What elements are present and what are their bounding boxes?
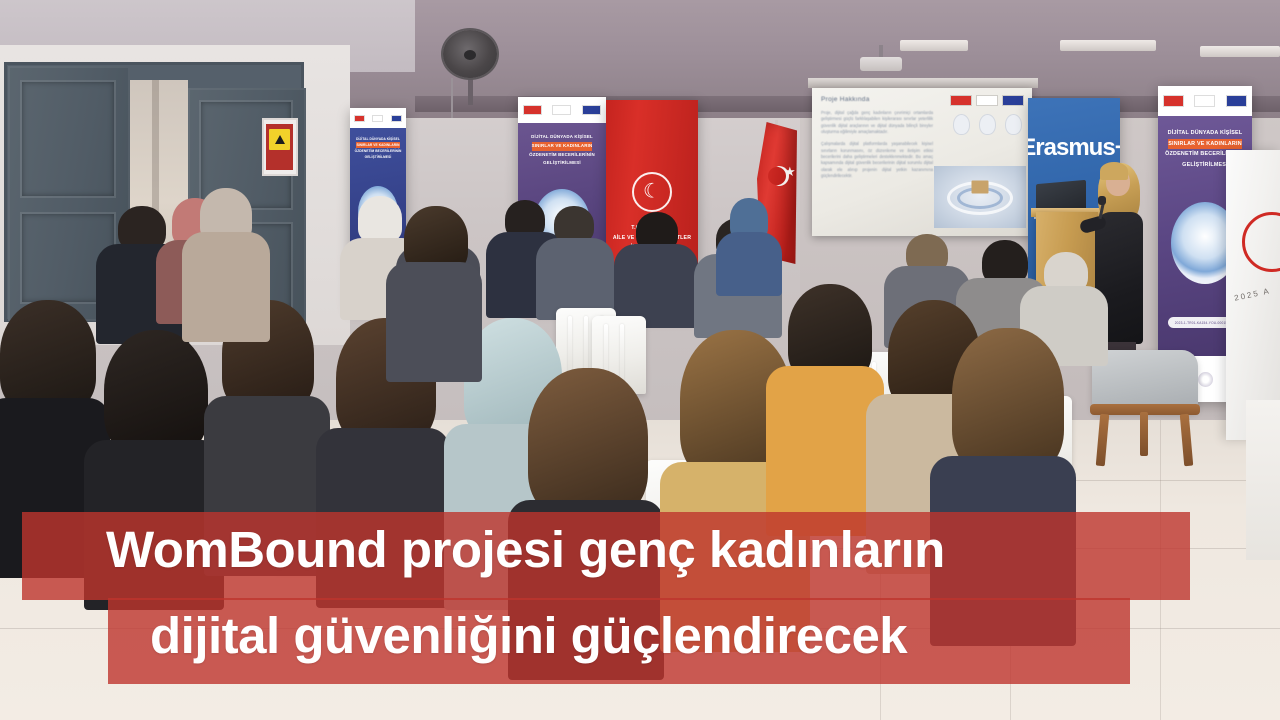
ceiling-light-strip-2 bbox=[1060, 40, 1156, 51]
slide-graphic-card bbox=[972, 181, 989, 194]
slide-paragraph-1: Proje, dijital çağda genç kadınların çev… bbox=[821, 110, 933, 135]
projector-icon bbox=[860, 57, 902, 71]
slide-badge-icon-2 bbox=[979, 114, 996, 135]
turkey-flag-icon bbox=[1163, 95, 1184, 107]
banner-mid-line3: ÖZDENETİM BECERİLERİNİN bbox=[518, 151, 606, 160]
warning-triangle-icon bbox=[275, 135, 285, 144]
slide-icon-row bbox=[953, 114, 1022, 135]
fan-cord bbox=[451, 78, 453, 118]
banner-mid-flag-row bbox=[518, 97, 606, 123]
banner-mid-line2: SINIRLAR VE KADINLARIN bbox=[532, 142, 593, 151]
slide-badge-icon-1 bbox=[953, 114, 970, 135]
ceiling-light-strip bbox=[900, 40, 968, 51]
ceiling-light-strip-3 bbox=[1200, 46, 1280, 57]
eu-flag-icon bbox=[1226, 95, 1247, 107]
flag-crescent-icon bbox=[764, 166, 784, 186]
fan-mount bbox=[468, 75, 473, 105]
turkey-flag-icon bbox=[354, 115, 365, 122]
ministry-emblem-icon bbox=[632, 172, 672, 212]
ministry-flag-icon bbox=[372, 115, 383, 122]
speaker-hair-top bbox=[1100, 162, 1128, 180]
eu-flag-icon bbox=[582, 105, 601, 115]
banner-left-flag-row bbox=[350, 108, 406, 128]
footer-logo-2 bbox=[1198, 372, 1213, 387]
news-photo: Proje Hakkında Proje, dijital çağda genç… bbox=[0, 0, 1280, 720]
white-banner-emblem-icon bbox=[1242, 212, 1280, 272]
eu-flag-icon bbox=[391, 115, 402, 122]
slide-title: Proje Hakkında bbox=[821, 96, 1023, 103]
banner-right-flag-row bbox=[1158, 86, 1252, 116]
erasmus-wordmark: Erasmus+ bbox=[1028, 134, 1120, 162]
ministry-flag-icon bbox=[1194, 95, 1215, 107]
banner-right-line1: DİJİTAL DÜNYADA KİŞİSEL bbox=[1158, 128, 1252, 139]
wall-sliver bbox=[1246, 400, 1280, 560]
banner-right-line2: SINIRLAR VE KADINLARIN bbox=[1168, 139, 1242, 150]
caption-line-1: WomBound projesi genç kadınların bbox=[106, 524, 945, 575]
screen-case bbox=[808, 78, 1038, 88]
white-banner-year: 2025 A bbox=[1233, 286, 1271, 302]
slide-paragraph-2: Çalışmalarda dijital platformlarda yaşan… bbox=[821, 141, 933, 179]
projection-screen: Proje Hakkında Proje, dijital çağda genç… bbox=[812, 88, 1032, 236]
presentation-slide: Proje Hakkında Proje, dijital çağda genç… bbox=[812, 88, 1032, 236]
caption-line-2: dijital güvenliğini güçlendirecek bbox=[150, 610, 907, 661]
slide-badge-icon-3 bbox=[1005, 114, 1022, 135]
white-flag-banner: 2025 A bbox=[1226, 150, 1280, 440]
slide-graphic bbox=[934, 166, 1026, 228]
banner-mid-line1: DİJİTAL DÜNYADA KİŞİSEL bbox=[518, 133, 606, 142]
turkey-flag-icon bbox=[523, 105, 542, 115]
banner-left-line4: GELİŞTİRİLMESİ bbox=[350, 154, 406, 160]
ministry-flag-icon bbox=[552, 105, 571, 115]
fan-hub bbox=[464, 50, 476, 60]
microphone-icon bbox=[1098, 196, 1106, 205]
banner-mid-line4: GELİŞTİRİLMESİ bbox=[518, 159, 606, 168]
